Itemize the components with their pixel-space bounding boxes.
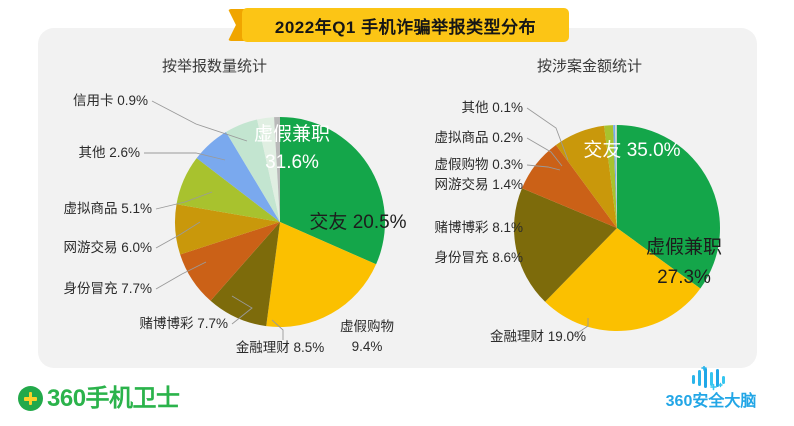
360-shield-plus-icon <box>18 386 43 411</box>
slice-label-inside: 27.3% <box>657 267 711 288</box>
slice-label: 其他 2.6% <box>78 145 140 160</box>
brand-360-mobile-guard: 360手机卫士 <box>18 386 180 411</box>
slice-label: 身份冒充 8.6% <box>434 250 523 265</box>
brand-360-security-brain: 360安全大脑 <box>651 366 771 410</box>
slice-label: 虚拟商品 5.1% <box>63 201 152 216</box>
slice-label-inside: 交友 20.5% <box>309 211 406 233</box>
slice-label: 金融理财 8.5% <box>236 340 325 355</box>
slice-label: 金融理财 19.0% <box>490 329 586 344</box>
title-ribbon: 2022年Q1 手机诈骗举报类型分布 <box>228 8 569 42</box>
slice-label: 信用卡 0.9% <box>73 93 148 108</box>
slice-label-inside: 31.6% <box>265 152 319 173</box>
slice-label-inside: 虚假兼职 <box>254 123 330 145</box>
brand-right-label: 360安全大脑 <box>666 394 757 410</box>
slice-label: 虚假购物 0.3% <box>434 157 523 172</box>
slice-label-inside: 交友 35.0% <box>583 139 680 161</box>
brand-left-label: 360手机卫士 <box>47 387 180 411</box>
360-brain-bars-icon <box>688 366 734 392</box>
slice-label: 网游交易 1.4% <box>434 176 523 192</box>
slice-label: 网游交易 6.0% <box>63 239 152 255</box>
slice-label-inside: 虚假兼职 <box>646 236 722 258</box>
infographic-root: 2022年Q1 手机诈骗举报类型分布 按举报数量统计 按涉案金额统计 信用卡 0… <box>0 0 794 426</box>
ribbon-body: 2022年Q1 手机诈骗举报类型分布 <box>242 8 569 42</box>
slice-label: 其他 0.1% <box>461 100 523 115</box>
slice-label: 赌博博彩 7.7% <box>139 315 228 331</box>
charts-layer: 信用卡 0.9%其他 2.6%虚拟商品 5.1%网游交易 6.0%身份冒充 7.… <box>0 0 794 426</box>
slice-label: 虚拟商品 0.2% <box>434 130 523 145</box>
slice-label: 身份冒充 7.7% <box>63 281 152 296</box>
slice-label: 虚假购物 <box>340 319 394 334</box>
page-title: 2022年Q1 手机诈骗举报类型分布 <box>275 13 536 38</box>
slice-label: 赌博博彩 8.1% <box>434 219 523 235</box>
slice-label: 9.4% <box>352 339 383 354</box>
